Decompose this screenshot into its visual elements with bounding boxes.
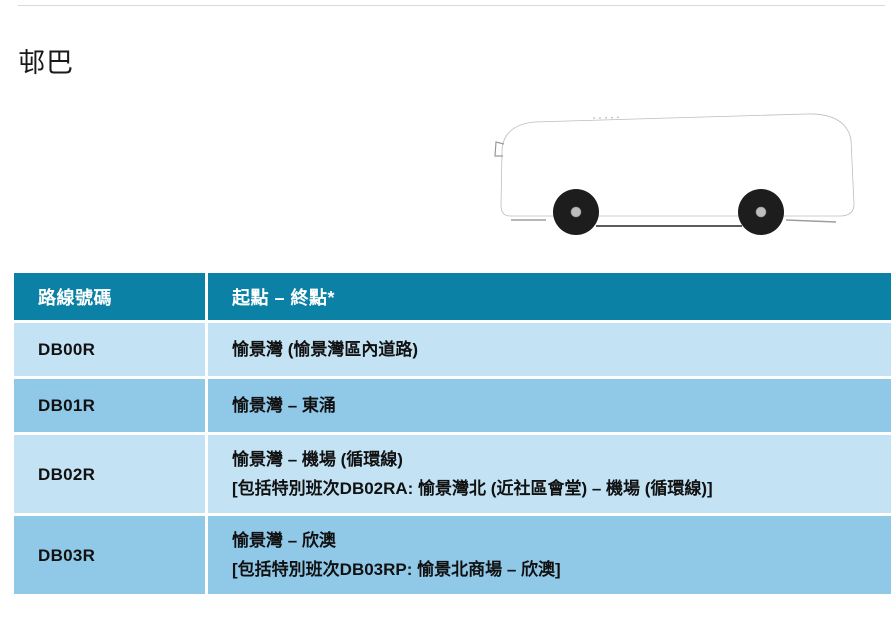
route-code: DB00R (14, 323, 208, 379)
route-description-line: 愉景灣 – 機場 (循環線) (232, 447, 891, 472)
route-code: DB03R (14, 516, 208, 597)
column-header-origin-destination: 起點 – 終點* (208, 273, 891, 323)
route-description-line: 愉景灣 (愉景灣區內道路) (232, 337, 891, 362)
route-description: 愉景灣 – 機場 (循環線) [包括特別班次DB02RA: 愉景灣北 (近社區會… (208, 435, 891, 516)
table-row: DB03R 愉景灣 – 欣澳 [包括特別班次DB03RP: 愉景北商場 – 欣澳… (14, 516, 891, 597)
route-description: 愉景灣 (愉景灣區內道路) (208, 323, 891, 379)
table-header: 路線號碼 起點 – 終點* (14, 273, 891, 323)
table-row: DB01R 愉景灣 – 東涌 (14, 379, 891, 435)
page-title: 邨巴 (18, 45, 74, 81)
route-description-note: [包括特別班次DB03RP: 愉景北商場 – 欣澳] (232, 557, 891, 582)
table-body: DB00R 愉景灣 (愉景灣區內道路) DB01R 愉景灣 – 東涌 DB02R… (14, 323, 891, 597)
coach-bus-image: 0%" stop-color="#4a4a4a"/> 55%" stop-col… (476, 100, 876, 250)
route-code: DB02R (14, 435, 208, 516)
table-header-row: 路線號碼 起點 – 終點* (14, 273, 891, 323)
route-description: 愉景灣 – 東涌 (208, 379, 891, 435)
route-description-line: 愉景灣 – 東涌 (232, 393, 891, 418)
bus-routes-table: 路線號碼 起點 – 終點* DB00R 愉景灣 (愉景灣區內道路) DB01R … (14, 273, 891, 597)
route-description-note: [包括特別班次DB02RA: 愉景灣北 (近社區會堂) – 機場 (循環線)] (232, 476, 891, 501)
route-description: 愉景灣 – 欣澳 [包括特別班次DB03RP: 愉景北商場 – 欣澳] (208, 516, 891, 597)
table-row: DB02R 愉景灣 – 機場 (循環線) [包括特別班次DB02RA: 愉景灣北… (14, 435, 891, 516)
route-description-line: 愉景灣 – 欣澳 (232, 528, 891, 553)
top-divider-rule (18, 5, 885, 6)
column-header-route-code: 路線號碼 (14, 273, 208, 323)
route-code: DB01R (14, 379, 208, 435)
table-row: DB00R 愉景灣 (愉景灣區內道路) (14, 323, 891, 379)
